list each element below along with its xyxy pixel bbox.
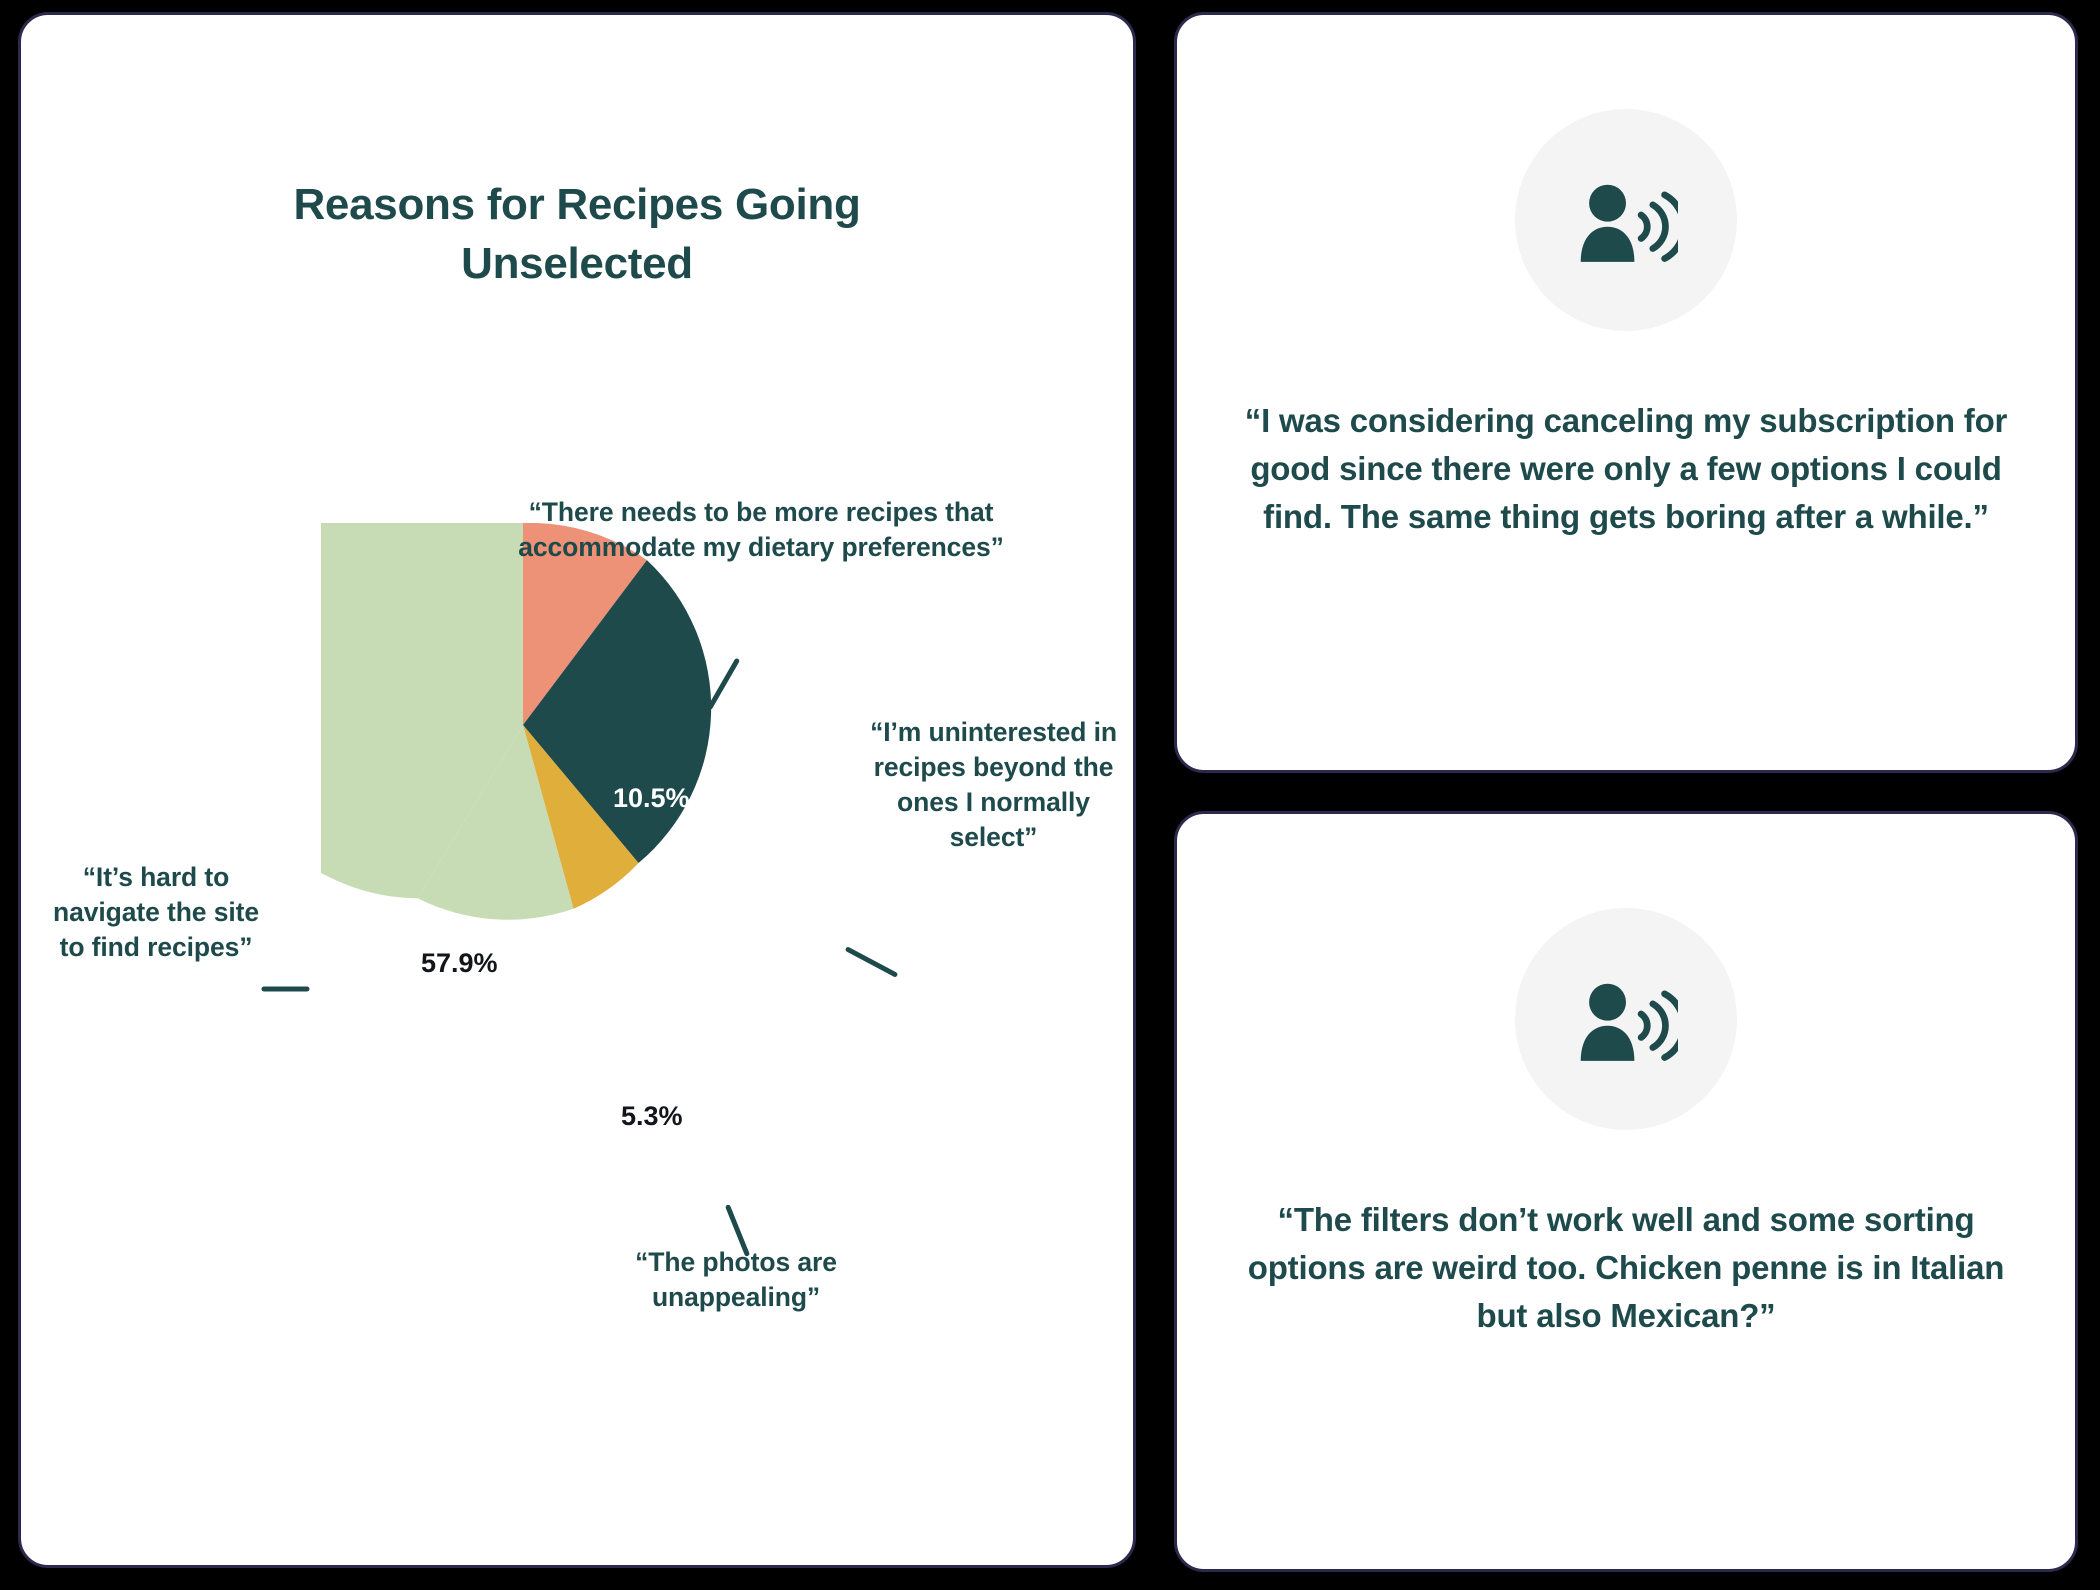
quote-card-1: “I was considering canceling my subscrip…	[1174, 12, 2078, 773]
avatar	[1515, 109, 1737, 331]
leader-line-navigate	[262, 987, 310, 992]
avatar	[1515, 908, 1737, 1130]
callout-dietary: “There needs to be more recipes that acc…	[511, 495, 1011, 565]
pie-label-dietary: 10.5%	[613, 783, 690, 814]
chart-stage: 57.9% 10.5% 26.3% 5.3% “There needs to b…	[21, 15, 1136, 1568]
callout-navigate: “It’s hard to navigate the site to find …	[41, 860, 271, 965]
pie-label-uninterested: 26.3%	[688, 948, 765, 979]
quotes-column: “I was considering canceling my subscrip…	[1174, 12, 2078, 1572]
pie-chart	[321, 523, 725, 927]
callout-uninterested: “I’m uninterested in recipes beyond the …	[861, 715, 1126, 855]
quote-text: “I was considering canceling my subscrip…	[1237, 397, 2015, 541]
person-speaking-icon	[1574, 977, 1678, 1061]
dashboard-board: Reasons for Recipes Going Unselected	[0, 0, 2100, 1590]
person-speaking-icon	[1574, 178, 1678, 262]
callout-photos: “The photos are unappealing”	[591, 1245, 881, 1315]
quote-card-2: “The filters don’t work well and some so…	[1174, 811, 2078, 1572]
pie-chart-card: Reasons for Recipes Going Unselected	[18, 12, 1136, 1568]
quote-text: “The filters don’t work well and some so…	[1237, 1196, 2015, 1340]
leader-line-uninterested	[845, 946, 899, 978]
pie-label-navigate: 57.9%	[421, 948, 498, 979]
pie-label-photos: 5.3%	[621, 1101, 683, 1132]
